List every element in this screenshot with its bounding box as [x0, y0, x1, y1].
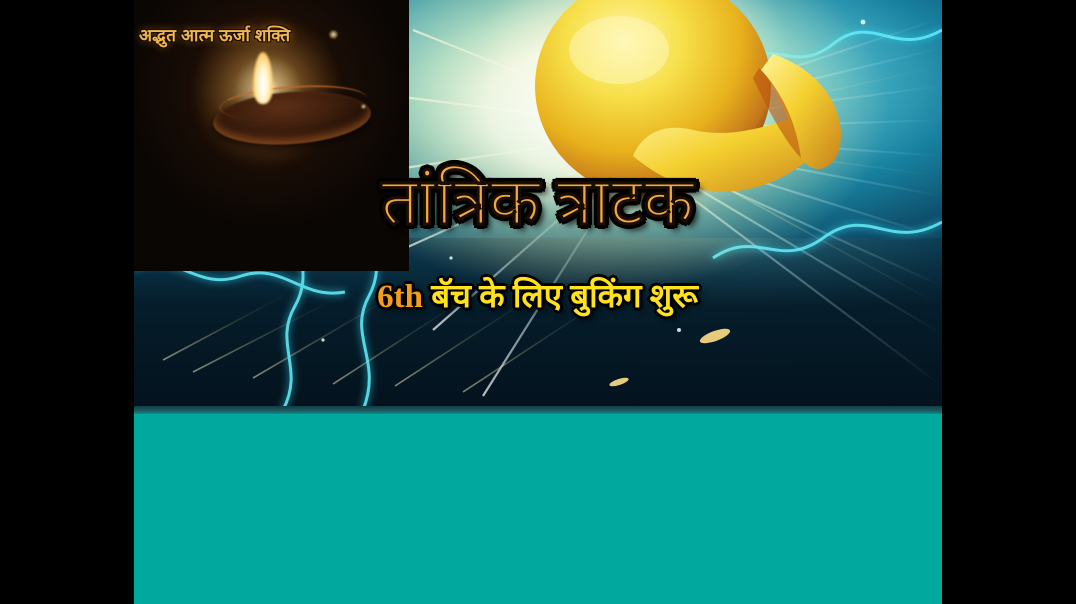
- teal-banner: अद्भुत ऊर्जा शक्ति का अनुभव करे: [133, 414, 942, 604]
- banner-divider: [133, 406, 942, 414]
- letterbox-left: [0, 0, 134, 604]
- page-title: तांत्रिक त्राटक: [133, 170, 942, 236]
- channel-heading: अद्भुत आत्म ऊर्जा शक्ति: [139, 23, 399, 46]
- letterbox-right: [942, 0, 1076, 604]
- subtitle-line: 6th बॅच के लिए बुकिंग शुरू: [133, 281, 942, 314]
- hero-artwork: अद्भुत आत्म ऊर्जा शक्ति तांत्रिक त्राटक …: [133, 0, 942, 410]
- batch-number: 6th: [377, 279, 423, 315]
- spark-icon: [361, 104, 366, 109]
- batch-caption: बॅच के लिए बुकिंग शुरू: [431, 279, 698, 315]
- content-frame: अद्भुत आत्म ऊर्जा शक्ति तांत्रिक त्राटक …: [133, 0, 942, 604]
- thumbnail-canvas: अद्भुत आत्म ऊर्जा शक्ति तांत्रिक त्राटक …: [0, 0, 1076, 604]
